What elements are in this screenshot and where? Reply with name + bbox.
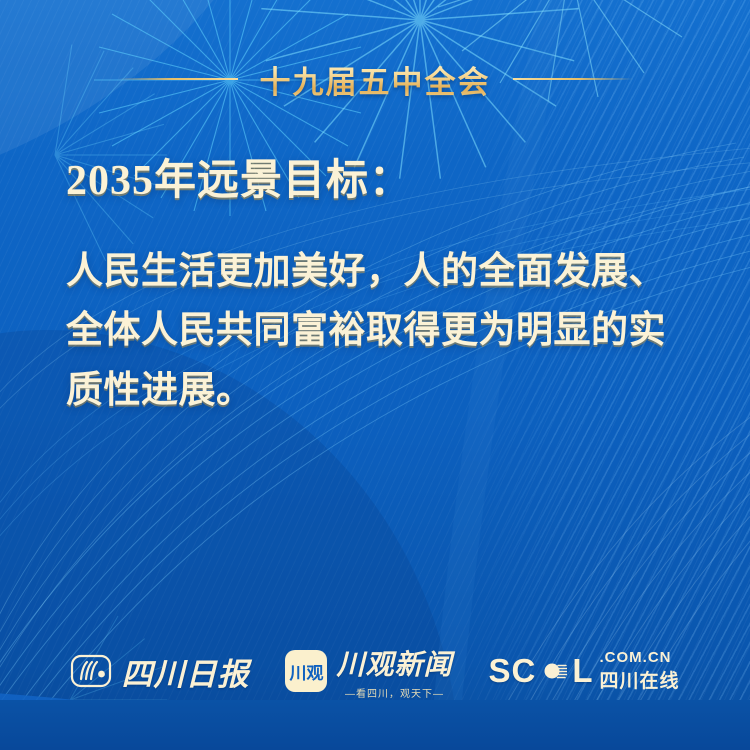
scol-right-block: .COM.CN 四川在线 <box>600 649 680 693</box>
headline-text: 2035年远景目标： <box>66 155 698 208</box>
gold-rule-left-icon <box>118 78 238 80</box>
scol-word-left: SC <box>488 652 536 690</box>
sichuan-daily-emblem-icon <box>70 653 112 689</box>
body-text: 人民生活更加美好，人的全面发展、全体人民共同富裕取得更为明显的实质性进展。 <box>66 242 698 422</box>
chuanguan-news-tagline: —看四川，观天下— <box>345 685 444 700</box>
footer-logo-row: 四川日报 川观 川观新闻 —看四川，观天下— SC <box>0 640 750 702</box>
gold-rule-right-icon <box>513 78 633 80</box>
chuanguan-news-label: 川观新闻 <box>336 643 452 683</box>
logo-scol[interactable]: SC L .COM.CN 四川在线 <box>488 649 679 693</box>
logo-sichuan-daily[interactable]: 四川日报 <box>70 649 249 694</box>
scol-domain-label: .COM.CN <box>600 649 672 666</box>
poster-canvas: 十九届五中全会 2035年远景目标： 人民生活更加美好，人的全面发展、全体人民共… <box>0 0 750 750</box>
logo-chuanguan-news[interactable]: 川观 川观新闻 —看四川，观天下— <box>285 643 452 700</box>
poster-content: 2035年远景目标： 人民生活更加美好，人的全面发展、全体人民共同富裕取得更为明… <box>66 155 698 421</box>
sichuan-daily-label: 四川日报 <box>121 649 249 694</box>
sun-burst-icon <box>541 658 567 684</box>
scol-chinese-label: 四川在线 <box>600 666 680 693</box>
header-title: 十九届五中全会 <box>260 57 491 102</box>
chuanguan-badge: 川观 <box>285 650 327 692</box>
chuanguan-text-block: 川观新闻 —看四川，观天下— <box>336 643 452 700</box>
scol-word-right: L <box>572 652 593 690</box>
poster-header: 十九届五中全会 <box>0 58 750 100</box>
